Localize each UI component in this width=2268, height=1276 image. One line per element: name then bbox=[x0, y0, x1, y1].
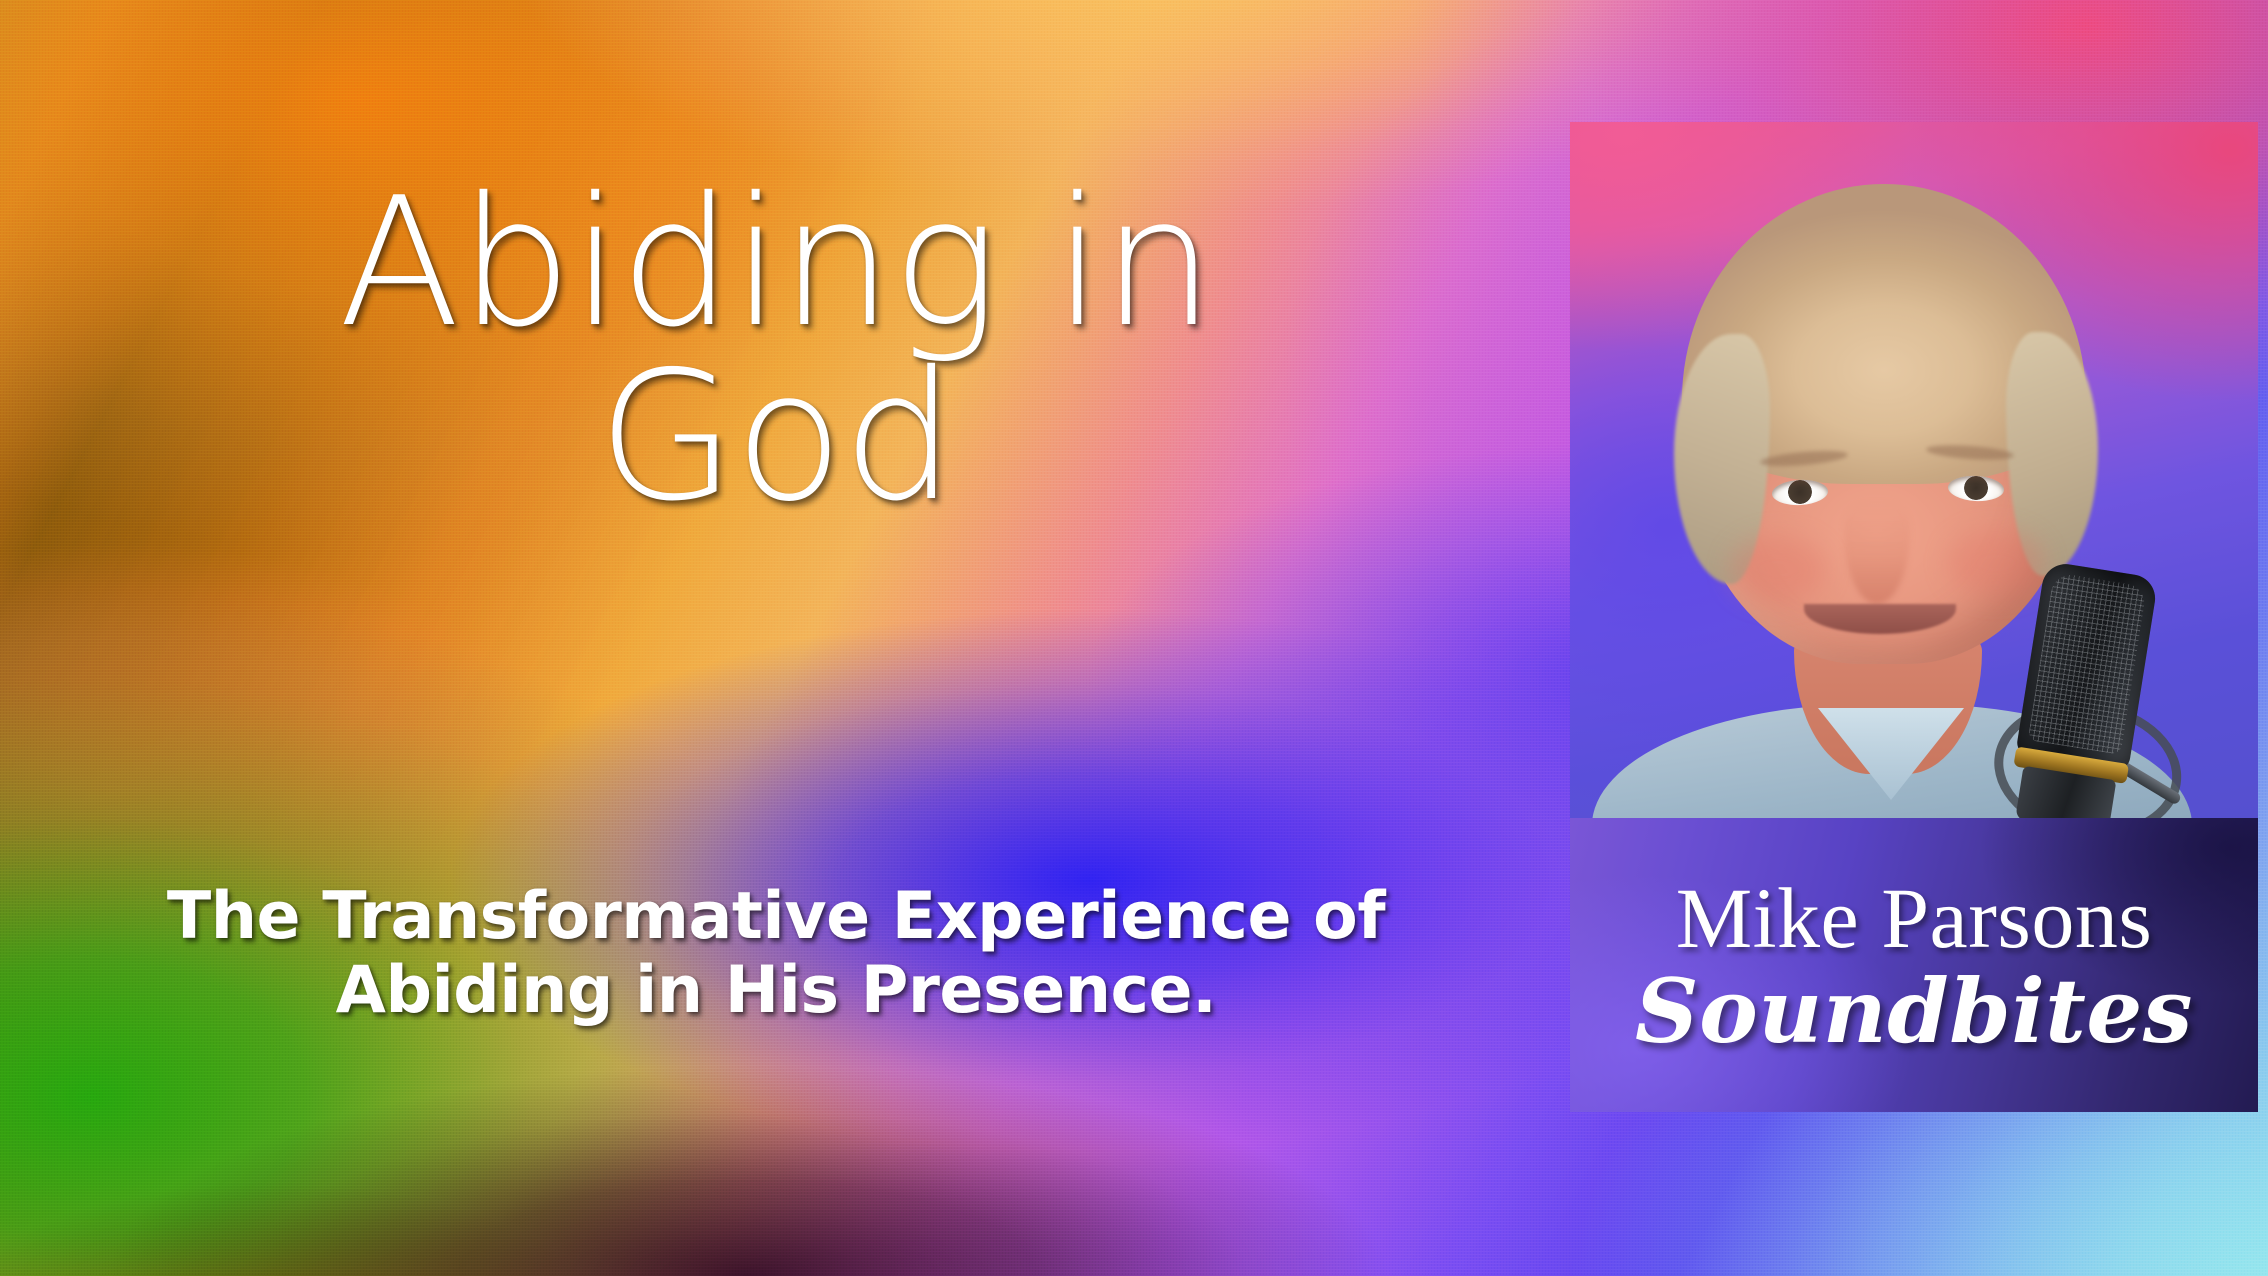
headline-line-1: Abiding in bbox=[0, 176, 1552, 350]
host-photo bbox=[1570, 122, 2258, 818]
video-thumbnail: Abiding in God The Transformative Experi… bbox=[0, 0, 2268, 1276]
name-plate: Mike Parsons Soundbites bbox=[1570, 818, 2258, 1112]
subtitle-line-2: Abiding in His Presence. bbox=[0, 954, 1552, 1028]
branding-panel: Mike Parsons Soundbites bbox=[1570, 122, 2258, 1112]
show-name: Soundbites bbox=[1635, 967, 2193, 1055]
host-name: Mike Parsons bbox=[1676, 875, 2153, 961]
headline-line-2: God bbox=[0, 350, 1552, 524]
cheek-left bbox=[1730, 536, 1826, 602]
subtitle-line-1: The Transformative Experience of bbox=[0, 880, 1552, 954]
headline: Abiding in God bbox=[0, 176, 1552, 525]
subtitle: The Transformative Experience of Abiding… bbox=[0, 880, 1552, 1028]
